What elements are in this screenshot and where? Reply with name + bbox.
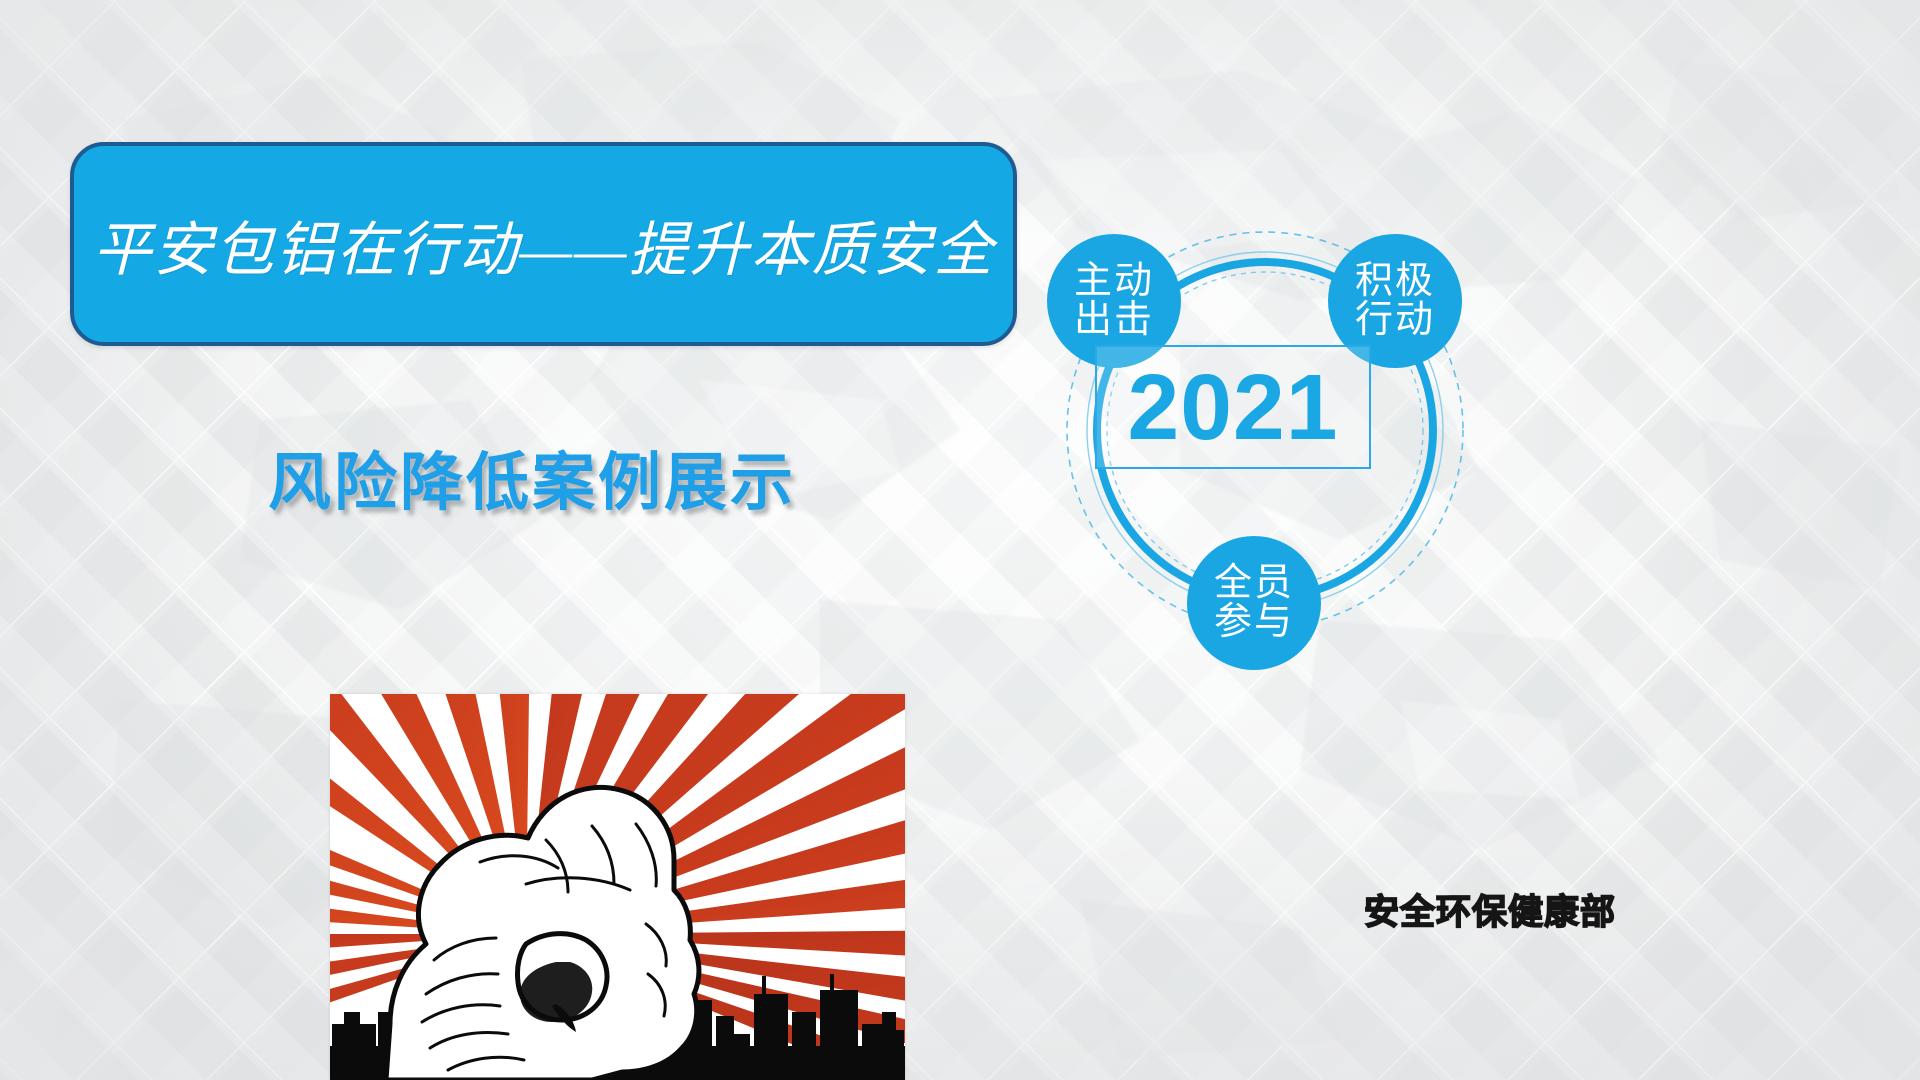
badge-bottom-line2: 参与 bbox=[1214, 603, 1294, 642]
fist-illustration-svg bbox=[330, 694, 905, 1080]
badge-top-left-line2: 出击 bbox=[1074, 301, 1154, 340]
year-emblem: 主动 出击 积极 行动 全员 参与 2021 bbox=[1035, 218, 1495, 678]
badge-top-right-line2: 行动 bbox=[1355, 301, 1435, 340]
badge-bottom: 全员 参与 bbox=[1187, 536, 1321, 670]
page-subtitle: 风险降低案例展示 bbox=[268, 432, 796, 523]
department-label: 安全环保健康部 bbox=[1340, 884, 1640, 935]
badge-bottom-line1: 全员 bbox=[1214, 564, 1294, 603]
title-banner: 平安包铝在行动——提升本质安全 bbox=[70, 142, 1017, 346]
year-box: 2021 bbox=[1095, 345, 1371, 469]
fist-illustration bbox=[330, 694, 905, 1080]
badge-top-right-line1: 积极 bbox=[1355, 262, 1435, 301]
badge-top-left-line1: 主动 bbox=[1074, 262, 1154, 301]
year-label: 2021 bbox=[1128, 361, 1339, 454]
page-title: 平安包铝在行动——提升本质安全 bbox=[93, 202, 995, 287]
slide-canvas: 平安包铝在行动——提升本质安全 风险降低案例展示 bbox=[0, 0, 1920, 1080]
